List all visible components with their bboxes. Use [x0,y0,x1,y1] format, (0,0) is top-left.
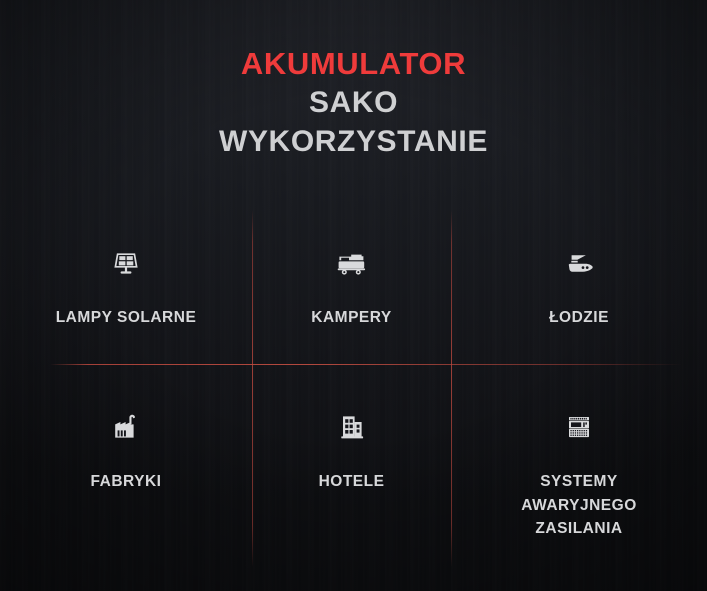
usage-cell-label: ŁODZIE [549,306,609,330]
usage-cell-boats[interactable]: ŁODZIE [451,208,707,365]
factory-icon [104,407,148,447]
solar-panel-icon [104,244,148,284]
title-line-subject: WYKORZYSTANIE [0,127,707,157]
usage-cell-label: LAMPY SOLARNE [56,306,197,330]
usage-cell-hotels[interactable]: HOTELE [252,365,451,568]
usage-cell-factories[interactable]: FABRYKI [0,365,252,568]
usage-cell-label: SYSTEMY AWARYJNEGO ZASILANIA [521,470,637,541]
boat-icon [557,244,601,284]
usage-cell-campers[interactable]: KAMPERY [252,208,451,365]
camper-van-icon [330,244,374,284]
page-title: AKUMULATOR SAKO WYKORZYSTANIE [0,0,707,157]
usage-cells: LAMPY SOLARNE [0,208,707,568]
title-line-brand: AKUMULATOR [0,48,707,79]
slide-content: AKUMULATOR SAKO WYKORZYSTANIE [0,0,707,591]
usage-cell-label: KAMPERY [311,306,391,330]
slide-root: AKUMULATOR SAKO WYKORZYSTANIE [0,0,707,591]
hotel-building-icon [330,407,374,447]
usage-cell-label: FABRYKI [91,470,162,494]
usage-cell-emergency-power[interactable]: SYSTEMY AWARYJNEGO ZASILANIA [451,365,707,568]
usage-cell-solar-lamps[interactable]: LAMPY SOLARNE [0,208,252,365]
usage-cell-label: HOTELE [319,470,385,494]
title-line-model: SAKO [0,88,707,118]
emergency-power-unit-icon [557,407,601,447]
usage-grid: LAMPY SOLARNE [0,208,707,568]
